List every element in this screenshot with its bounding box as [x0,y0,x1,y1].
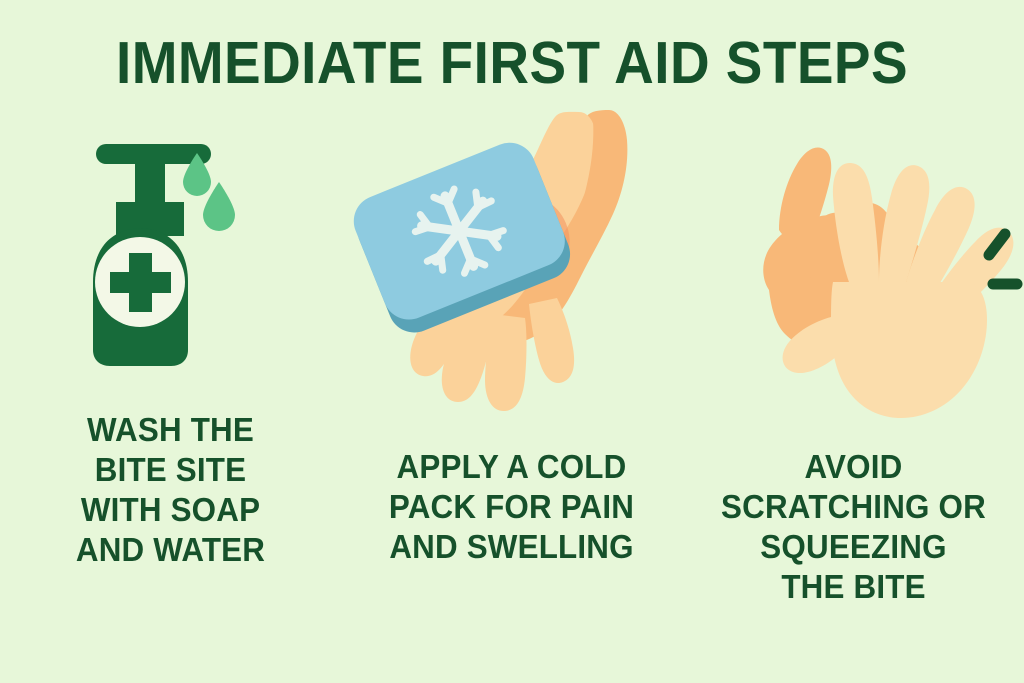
caption-line: SQUEEZING [692,527,1016,567]
caption-line: PACK FOR PAIN [350,487,674,527]
cold-pack-on-hand-icon [341,110,682,440]
step-3-column: AVOID SCRATCHING OR SQUEEZING THE BITE [683,110,1024,670]
finger-4 [529,298,574,383]
soap-dispenser-icon [0,110,341,400]
step-2-caption: APPLY A COLD PACK FOR PAIN AND SWELLING [350,447,674,567]
caption-line: WITH SOAP [9,490,333,530]
step-3-caption: AVOID SCRATCHING OR SQUEEZING THE BITE [692,447,1016,607]
caption-line: AND WATER [9,530,333,570]
pump-stem [135,156,165,202]
caption-line: WASH THE [9,410,333,450]
caption-line: AVOID [692,447,1016,487]
caption-line: BITE SITE [9,450,333,490]
cold-pack-illustration [341,110,682,445]
caption-line: SCRATCHING OR [692,487,1016,527]
soap-dispenser-illustration [0,110,341,405]
finger-3 [485,314,527,411]
caption-line: AND SWELLING [350,527,674,567]
page-title: IMMEDIATE FIRST AID STEPS [36,33,988,95]
front-hand-palm [831,282,987,418]
step-2-column: APPLY A COLD PACK FOR PAIN AND SWELLING [341,110,682,670]
infographic-root: IMMEDIATE FIRST AID STEPS [0,0,1024,683]
step-1-caption: WASH THE BITE SITE WITH SOAP AND WATER [9,410,333,570]
caption-line: APPLY A COLD [350,447,674,487]
hands-no-scratching-icon [683,110,1024,440]
caption-line: THE BITE [692,567,1016,607]
step-1-column: WASH THE BITE SITE WITH SOAP AND WATER [0,110,341,670]
hands-illustration [683,110,1024,445]
